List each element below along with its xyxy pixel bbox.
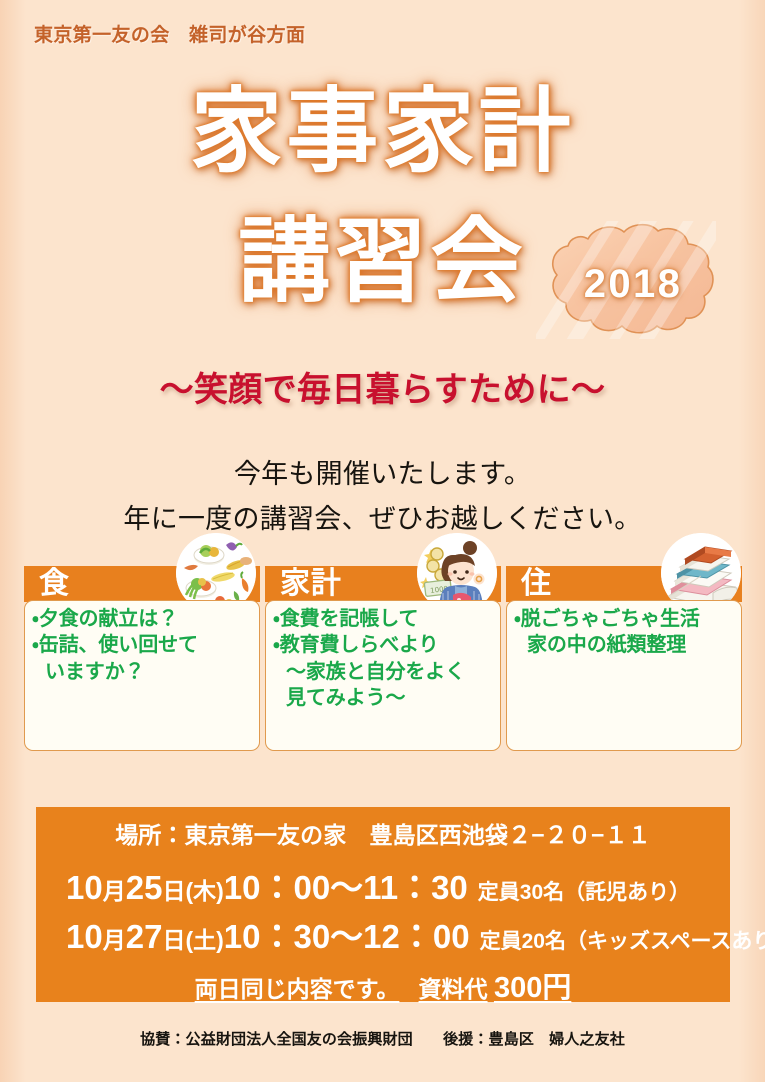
session-1-month-unit: 月 [103, 878, 126, 904]
lead-line-1: 今年も開催いたします。 [0, 452, 765, 491]
year-badge-text: 2018 [536, 221, 716, 339]
theme-card-food: 食 [24, 566, 260, 751]
theme-card-housing-heading: 住 [521, 567, 552, 601]
lead-line-2: 年に一度の講習会、ぜひお越しください。 [0, 497, 765, 536]
panel-note: 両日同じ内容です。 資料代 300円 [36, 964, 730, 1006]
event-details-panel: 場所：東京第一友の家 豊島区西池袋２−２０−１１ 10月25日(木)10：00〜… [36, 807, 730, 1002]
session-row-1: 10月25日(木)10：00〜11：30定員30名（託児あり） [66, 861, 730, 909]
session-2-time: 10：30〜12：00 [224, 918, 470, 955]
session-1-day-number: 25 [126, 869, 163, 906]
theme-card-food-line-1: ・夕食の献立は？ [32, 606, 253, 632]
theme-card-food-heading: 食 [39, 567, 70, 601]
same-content-note: 両日同じ内容です。 [195, 976, 400, 1002]
catch-copy: 〜笑顔で毎日暮らすために〜 [0, 362, 765, 411]
theme-cards: 食 [24, 566, 742, 751]
poster-page: 東京第一友の会 雑司が谷方面 家事家計 講習会 2018 [0, 0, 765, 1082]
title-line-2-text: 講習会 [238, 216, 526, 308]
theme-card-food-line-2: ・缶詰、使い回せて [32, 632, 253, 658]
footer-credits: 協賛：公益財団法人全国友の会振興財団 後援：豊島区 婦人之友社 [0, 1028, 765, 1049]
theme-card-household-budget-line-4: 見てみよう〜 [273, 685, 494, 711]
venue-line: 場所：東京第一友の家 豊島区西池袋２−２０−１１ [36, 816, 730, 850]
session-2-day-unit: 日 [162, 927, 185, 953]
theme-card-food-line-3: いますか？ [32, 659, 253, 685]
theme-card-household-budget-body: ・食費を記帳して ・教育費しらべより 〜家族と自分をよく 見てみよう〜 [265, 600, 501, 751]
session-2-capacity: 定員20名（キッズスペースあり） [480, 930, 765, 953]
theme-card-housing-line-1: ・脱ごちゃごちゃ生活 [514, 606, 735, 632]
session-2-day-number: 27 [126, 918, 163, 955]
title-line-1-text: 家事家計 [190, 86, 575, 178]
year-cloud-badge: 2018 [536, 221, 716, 339]
title-line-1: 家事家計 [0, 86, 765, 178]
theme-card-housing-body: ・脱ごちゃごちゃ生活 家の中の紙類整理 [506, 600, 742, 751]
session-2-weekday: (土) [185, 927, 223, 953]
theme-card-household-budget: 家計 1000 [265, 566, 501, 751]
theme-card-housing: 住 [506, 566, 742, 751]
session-1-time: 10：00〜11：30 [224, 869, 468, 906]
session-1-capacity: 定員30名（託児あり） [478, 881, 690, 904]
session-row-2: 10月27日(土)10：30〜12：00定員20名（キッズスペースあり） [66, 910, 730, 958]
theme-card-household-budget-line-2: ・教育費しらべより [273, 632, 494, 658]
organization-line: 東京第一友の会 雑司が谷方面 [34, 20, 305, 47]
session-2-month-unit: 月 [103, 927, 126, 953]
session-1-day-unit: 日 [162, 878, 185, 904]
fee-amount: 300円 [494, 972, 571, 1004]
theme-card-household-budget-heading: 家計 [280, 567, 342, 601]
fee-label: 資料代 [419, 976, 488, 1002]
theme-card-household-budget-line-3: 〜家族と自分をよく [273, 659, 494, 685]
theme-card-household-budget-line-1: ・食費を記帳して [273, 606, 494, 632]
session-1-month-number: 10 [66, 869, 103, 906]
theme-card-food-body: ・夕食の献立は？ ・缶詰、使い回せて いますか？ [24, 600, 260, 751]
session-2-month-number: 10 [66, 918, 103, 955]
theme-card-housing-line-2: 家の中の紙類整理 [514, 632, 735, 658]
session-1-weekday: (木) [185, 878, 223, 904]
